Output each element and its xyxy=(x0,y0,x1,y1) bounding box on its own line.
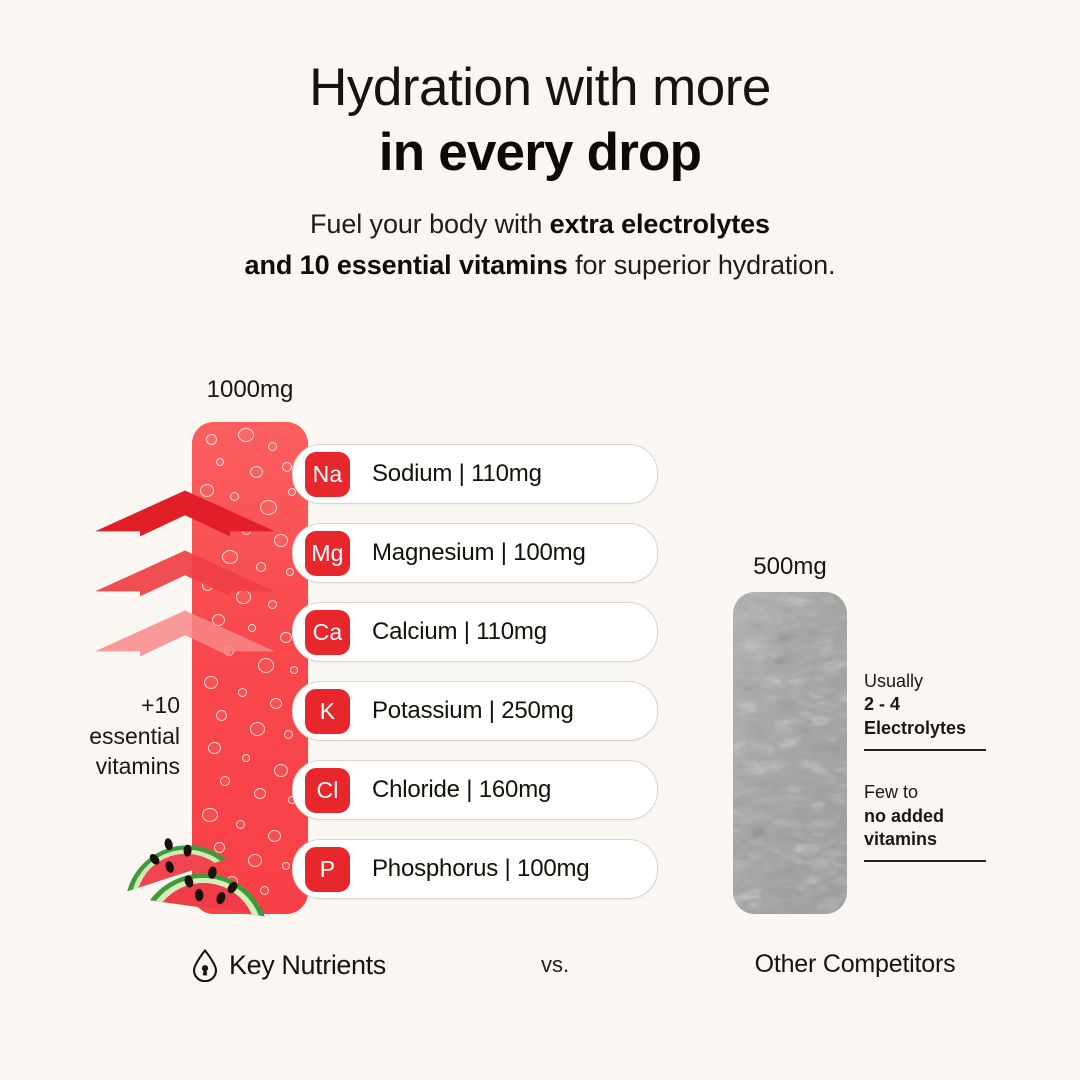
watermelon-illustration xyxy=(112,806,292,924)
nutrient-list: Na Sodium | 110mg Mg Magnesium | 100mg C… xyxy=(292,444,658,899)
nutrient-label: Phosphorus | 100mg xyxy=(372,855,589,883)
headline-line-2: in every drop xyxy=(0,123,1080,182)
subheading: Fuel your body with extra electrolytes a… xyxy=(0,204,1080,285)
note-bold-2: Electrolytes xyxy=(864,718,966,738)
note-normal-text: Usually xyxy=(864,671,923,691)
element-badge: Ca xyxy=(305,610,350,655)
note-bold-2: vitamins xyxy=(864,829,937,849)
list-item[interactable]: Ca Calcium | 110mg xyxy=(292,602,658,662)
element-badge: Mg xyxy=(305,531,350,576)
list-item[interactable]: Mg Magnesium | 100mg xyxy=(292,523,658,583)
competitor-note-vitamins: Few to no added vitamins xyxy=(864,781,986,862)
vitamins-note-line-2: essential xyxy=(28,721,180,752)
note-divider xyxy=(864,749,986,751)
note-bold-1: 2 - 4 xyxy=(864,694,900,714)
water-drop-keyhole-icon xyxy=(190,948,220,982)
list-item[interactable]: K Potassium | 250mg xyxy=(292,681,658,741)
subheading-bold-1: extra electrolytes xyxy=(550,209,770,239)
vitamins-note: +10 essential vitamins xyxy=(28,690,180,782)
product-amount-label: 1000mg xyxy=(140,376,360,404)
competitor-amount-label: 500mg xyxy=(690,553,890,581)
infographic-canvas: Hydration with more in every drop Fuel y… xyxy=(0,0,1080,1080)
competitor-bar xyxy=(733,592,847,914)
vitamins-note-line-3: vitamins xyxy=(28,751,180,782)
competitor-notes: Usually 2 - 4 Electrolytes Few to no add… xyxy=(864,670,986,892)
nutrient-label: Potassium | 250mg xyxy=(372,697,574,725)
note-bold-1: no added xyxy=(864,806,944,826)
note-normal-text: Few to xyxy=(864,782,918,802)
nutrient-label: Calcium | 110mg xyxy=(372,618,547,646)
subheading-bold-2: and 10 essential vitamins xyxy=(245,250,568,280)
headline-line-1: Hydration with more xyxy=(0,58,1080,117)
vitamins-note-line-1: +10 xyxy=(28,690,180,721)
subheading-part-3: for superior hydration. xyxy=(568,250,836,280)
nutrient-label: Sodium | 110mg xyxy=(372,460,542,488)
page-title: Hydration with more in every drop xyxy=(0,58,1080,183)
list-item[interactable]: Cl Chloride | 160mg xyxy=(292,760,658,820)
element-badge: Cl xyxy=(305,768,350,813)
nutrient-label: Chloride | 160mg xyxy=(372,776,551,804)
brand-name: Key Nutrients xyxy=(229,950,386,981)
element-badge: K xyxy=(305,689,350,734)
list-item[interactable]: P Phosphorus | 100mg xyxy=(292,839,658,899)
brand-logo: Key Nutrients xyxy=(190,948,386,982)
nutrient-label: Magnesium | 100mg xyxy=(372,539,586,567)
element-badge: Na xyxy=(305,452,350,497)
growth-arrows-icon xyxy=(70,490,300,690)
element-badge: P xyxy=(305,847,350,892)
competitor-title: Other Competitors xyxy=(690,950,1020,979)
list-item[interactable]: Na Sodium | 110mg xyxy=(292,444,658,504)
note-divider xyxy=(864,860,986,862)
subheading-part-1: Fuel your body with xyxy=(310,209,550,239)
competitor-note-electrolytes: Usually 2 - 4 Electrolytes xyxy=(864,670,986,751)
versus-label: vs. xyxy=(500,952,610,978)
